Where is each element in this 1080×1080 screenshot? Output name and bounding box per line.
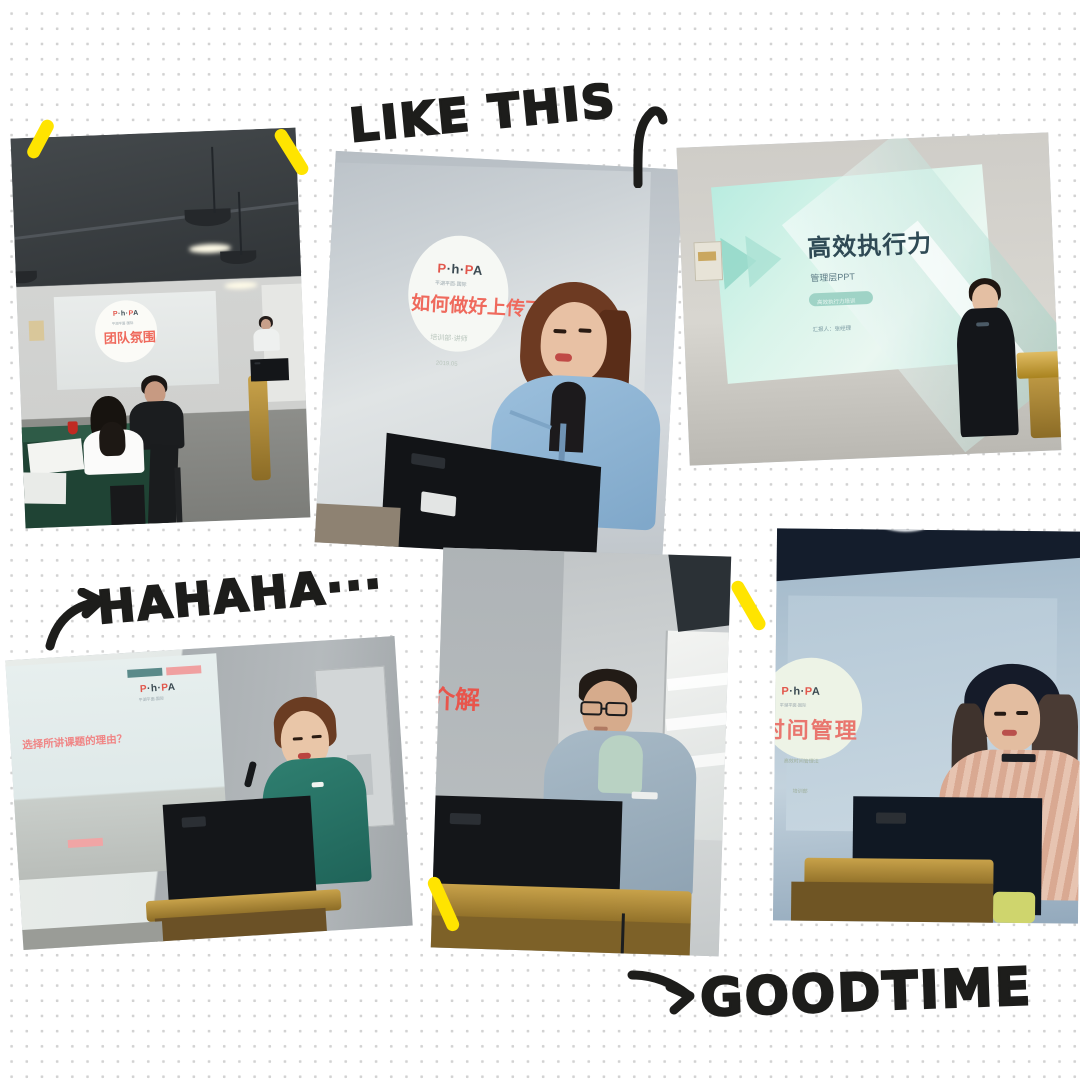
photo-team-atmosphere[interactable]: P·h·PA 平湖平面·国际 团队氛围 xyxy=(11,128,311,529)
photo-time-management[interactable]: P·h·PA 平湖平面·国际 时间管理 高效时间管理法 培训部 xyxy=(773,528,1080,923)
annotation-like-this: LIKE THIS xyxy=(347,73,619,152)
photo-introduction[interactable]: 介解 xyxy=(431,548,731,957)
photo-top-down-communication[interactable]: P·h·PA 平湖平面·国际 如何做好上传下达 培训部·讲师 2019.05 xyxy=(315,151,684,561)
annotation-hahaha: HAHAHA··· xyxy=(95,557,385,635)
arrow-down-right-curve-icon xyxy=(626,965,702,1025)
collage-canvas: P·h·PA 平湖平面·国际 团队氛围 xyxy=(0,0,1080,1080)
photo-topic-reason[interactable]: 选择所讲课题的理由？ P·h·PA 平湖平面·国际 NO.107 xyxy=(5,636,412,950)
annotation-goodtime: GOODTIME xyxy=(699,957,1033,1029)
arrow-up-curve-icon xyxy=(622,96,678,188)
photo-high-efficiency-execution[interactable]: 高效执行力 管理层PPT 高效执行力培训 汇报人：张经理 xyxy=(677,132,1062,465)
accent-mark-bottom-center-a xyxy=(729,578,768,632)
